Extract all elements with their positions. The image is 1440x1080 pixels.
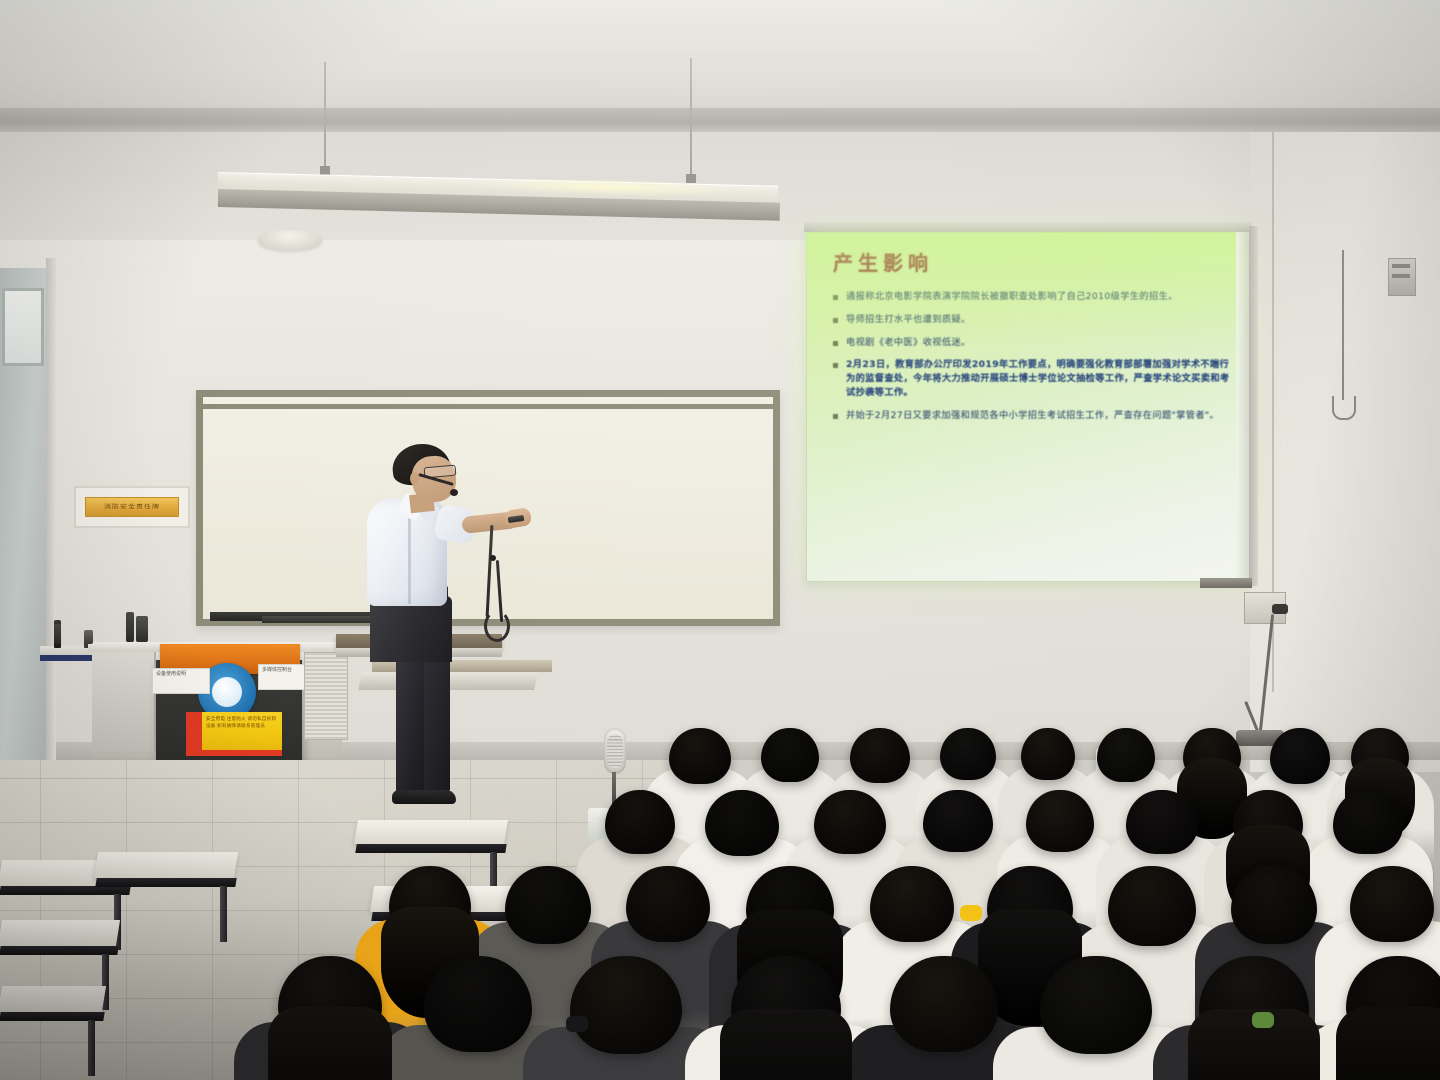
slide-bullet-text: 并始于2月27日又要求加强和规范各中小学招生考试招生工作，严查存在问题"掌管者"… bbox=[846, 409, 1219, 423]
student-head bbox=[505, 866, 591, 944]
student-head bbox=[1040, 956, 1152, 1054]
counter-object bbox=[126, 612, 134, 642]
student-head bbox=[870, 866, 954, 942]
slide-bullet-text: 通报称北京电影学院表演学院院长被撤职查处影响了自己2010级学生的招生。 bbox=[846, 290, 1178, 304]
lecture-hall-photo: 消防安全责任牌 产生影响 通报称北京电影学院表演学院院长被撤职查处影响了自己20… bbox=[0, 0, 1440, 1080]
student-head bbox=[890, 956, 998, 1052]
student-head bbox=[850, 728, 910, 783]
screen-frame bbox=[1249, 226, 1258, 586]
instructor-lanyard-knot bbox=[490, 555, 496, 561]
slide-bullet-text: 电视剧《老中医》收视低迷。 bbox=[846, 336, 971, 350]
student-long-hair bbox=[268, 1007, 393, 1080]
headset-microphone-tip bbox=[450, 489, 458, 496]
ceiling bbox=[0, 0, 1440, 120]
door-window bbox=[2, 288, 44, 366]
screen-right-edge bbox=[1236, 232, 1250, 580]
instructor-lanyard-loop bbox=[484, 610, 510, 642]
slide-bullet: 2月23日，教育部办公厅印发2019年工作要点，明确要强化教育部部署加强对学术不… bbox=[833, 358, 1233, 399]
student-head bbox=[1108, 866, 1196, 946]
instructor-shirt-placket bbox=[408, 516, 411, 604]
slide-bullet-text: 导师招生打水平也遭到质疑。 bbox=[846, 313, 971, 327]
student-head bbox=[1097, 728, 1155, 782]
student-long-hair bbox=[720, 1009, 852, 1080]
ceiling-smoke-detector bbox=[258, 230, 322, 250]
projection-screen: 产生影响 通报称北京电影学院表演学院院长被撤职查处影响了自己2010级学生的招生… bbox=[806, 232, 1250, 582]
lamp-suspension-rod bbox=[324, 62, 326, 174]
student-long-hair bbox=[1336, 1007, 1440, 1080]
yellow-wristband bbox=[960, 905, 982, 921]
student-head bbox=[1231, 866, 1317, 944]
student-head bbox=[605, 790, 675, 854]
student-head bbox=[923, 790, 993, 852]
slide-bullet: 导师招生打水平也遭到质疑。 bbox=[833, 313, 1233, 327]
cord-hook bbox=[1332, 396, 1356, 420]
student-head bbox=[1026, 790, 1094, 852]
whiteboard-top-rail bbox=[196, 404, 780, 409]
student-head bbox=[1270, 728, 1330, 784]
student-head bbox=[570, 956, 682, 1054]
student-head bbox=[1021, 728, 1075, 780]
slide-bullet: 并始于2月27日又要求加强和规范各中小学招生考试招生工作，严查存在问题"掌管者"… bbox=[833, 409, 1233, 423]
slide-bullet: 通报称北京电影学院表演学院院长被撤职查处影响了自己2010级学生的招生。 bbox=[833, 290, 1233, 304]
bullet-marker-icon bbox=[833, 318, 838, 323]
student-head bbox=[626, 866, 710, 942]
wall-plaque: 消防安全责任牌 bbox=[74, 486, 190, 528]
lamp-suspension-rod bbox=[690, 58, 692, 176]
wall-plaque-text: 消防安全责任牌 bbox=[104, 503, 160, 512]
bullet-marker-icon bbox=[833, 363, 838, 368]
student-head bbox=[761, 728, 819, 782]
slide-title: 产生影响 bbox=[833, 247, 1233, 276]
student-head bbox=[1333, 790, 1403, 854]
bullet-marker-icon bbox=[833, 414, 838, 419]
student-head bbox=[424, 956, 532, 1052]
student-head bbox=[669, 728, 731, 784]
student-head bbox=[1350, 866, 1434, 942]
wall-plaque-inner: 消防安全责任牌 bbox=[85, 497, 179, 517]
presentation-slide: 产生影响 通报称北京电影学院表演学院院长被撤职查处影响了自己2010级学生的招生… bbox=[807, 233, 1249, 581]
ceiling-beam bbox=[0, 108, 1440, 134]
wall-socket-plug bbox=[1272, 604, 1288, 614]
black-watch bbox=[566, 1016, 588, 1032]
slide-bullet: 电视剧《老中医》收视低迷。 bbox=[833, 336, 1233, 350]
projection-screen-housing bbox=[804, 222, 1252, 232]
wall-device-louver bbox=[1392, 274, 1410, 278]
wall-device-louver bbox=[1392, 264, 1410, 268]
student-head bbox=[705, 790, 779, 856]
counter-object bbox=[136, 616, 148, 642]
bullet-marker-icon bbox=[833, 341, 838, 346]
hanging-cord bbox=[1342, 250, 1344, 400]
student-head bbox=[940, 728, 996, 780]
bullet-marker-icon bbox=[833, 295, 838, 300]
slide-bullet-text: 2月23日，教育部办公厅印发2019年工作要点，明确要强化教育部部署加强对学术不… bbox=[846, 358, 1233, 399]
student-head bbox=[814, 790, 886, 854]
student-audience bbox=[0, 640, 1440, 1080]
green-bottle bbox=[1252, 1012, 1274, 1028]
student-head bbox=[1126, 790, 1198, 854]
screen-bottom-bar bbox=[1200, 578, 1252, 588]
